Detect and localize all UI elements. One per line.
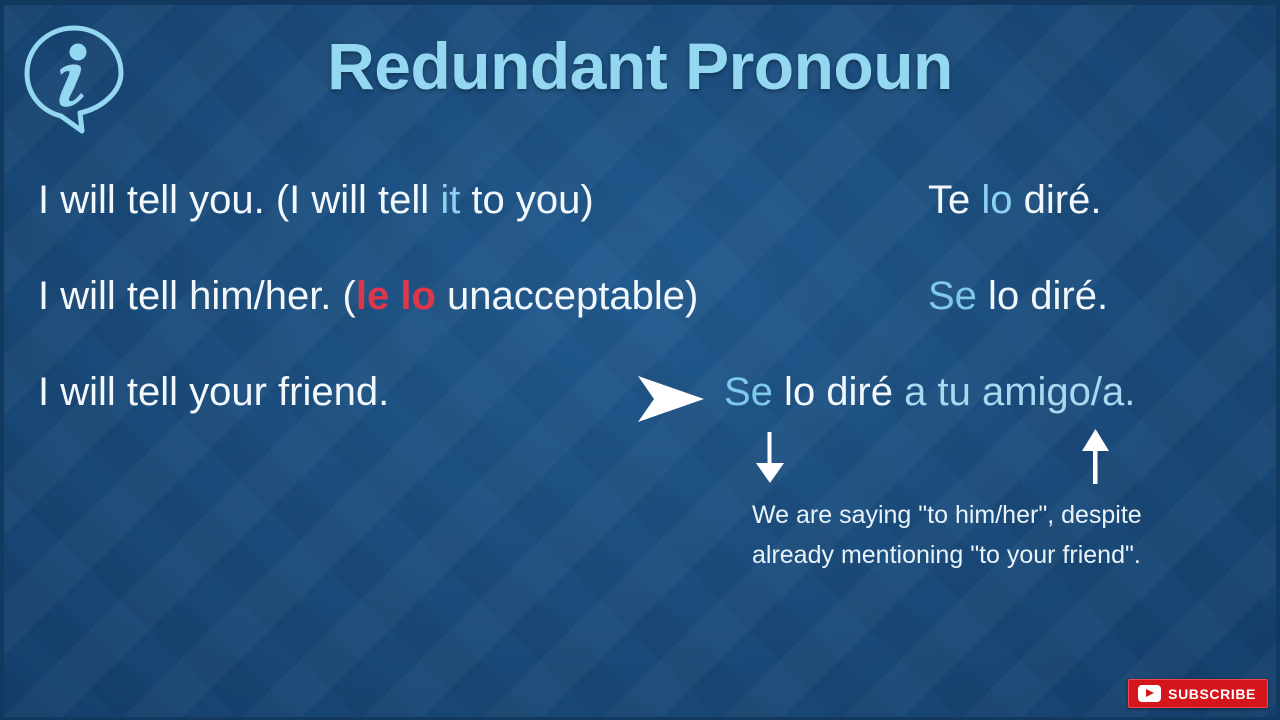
highlight-word: Se bbox=[724, 370, 773, 414]
text-post: to you) bbox=[460, 178, 593, 222]
slide-frame-border bbox=[0, 0, 1280, 720]
annotation-caption: We are saying "to him/her", despite alre… bbox=[752, 496, 1222, 575]
text-post: unacceptable) bbox=[436, 274, 698, 318]
english-sentence: I will tell your friend. bbox=[38, 370, 389, 415]
spanish-sentence: Te lo diré. bbox=[928, 178, 1101, 223]
english-sentence: I will tell him/her. (le lo unacceptable… bbox=[38, 274, 698, 319]
slide-canvas: Redundant Pronoun I will tell you. (I wi… bbox=[0, 0, 1280, 720]
text-pre: I will tell you. (I will tell bbox=[38, 178, 440, 222]
text-post: diré. bbox=[1013, 178, 1102, 222]
highlight-word: lo bbox=[981, 178, 1012, 222]
caption-line-1: We are saying "to him/her", despite bbox=[752, 496, 1222, 536]
right-arrowhead-icon bbox=[634, 373, 708, 425]
english-sentence: I will tell you. (I will tell it to you) bbox=[38, 178, 594, 223]
highlight-word: Se bbox=[928, 274, 977, 318]
spanish-sentence: Se lo diré. bbox=[928, 274, 1108, 319]
text-pre: Te bbox=[928, 178, 981, 222]
up-arrow-icon bbox=[1078, 428, 1114, 484]
text-pre: I will tell your friend. bbox=[38, 370, 389, 414]
caption-line-2: already mentioning "to your friend". bbox=[752, 536, 1222, 576]
highlight-word-error: le lo bbox=[356, 274, 436, 318]
down-arrow-icon bbox=[752, 432, 788, 484]
highlight-word: it bbox=[440, 178, 460, 222]
subscribe-button[interactable]: SUBSCRIBE bbox=[1128, 679, 1268, 708]
example-row: I will tell you. (I will tell it to you)… bbox=[0, 178, 1280, 234]
text-post: a tu amigo/a. bbox=[893, 370, 1135, 414]
text-post: lo diré. bbox=[977, 274, 1108, 318]
text-mid: lo diré bbox=[773, 370, 893, 414]
example-row: I will tell him/her. (le lo unacceptable… bbox=[0, 274, 1280, 330]
page-title: Redundant Pronoun bbox=[0, 28, 1280, 104]
spanish-sentence: Se lo diré a tu amigo/a. bbox=[724, 370, 1135, 415]
youtube-play-icon bbox=[1138, 685, 1161, 702]
text-pre: I will tell him/her. ( bbox=[38, 274, 356, 318]
subscribe-label: SUBSCRIBE bbox=[1168, 687, 1256, 701]
